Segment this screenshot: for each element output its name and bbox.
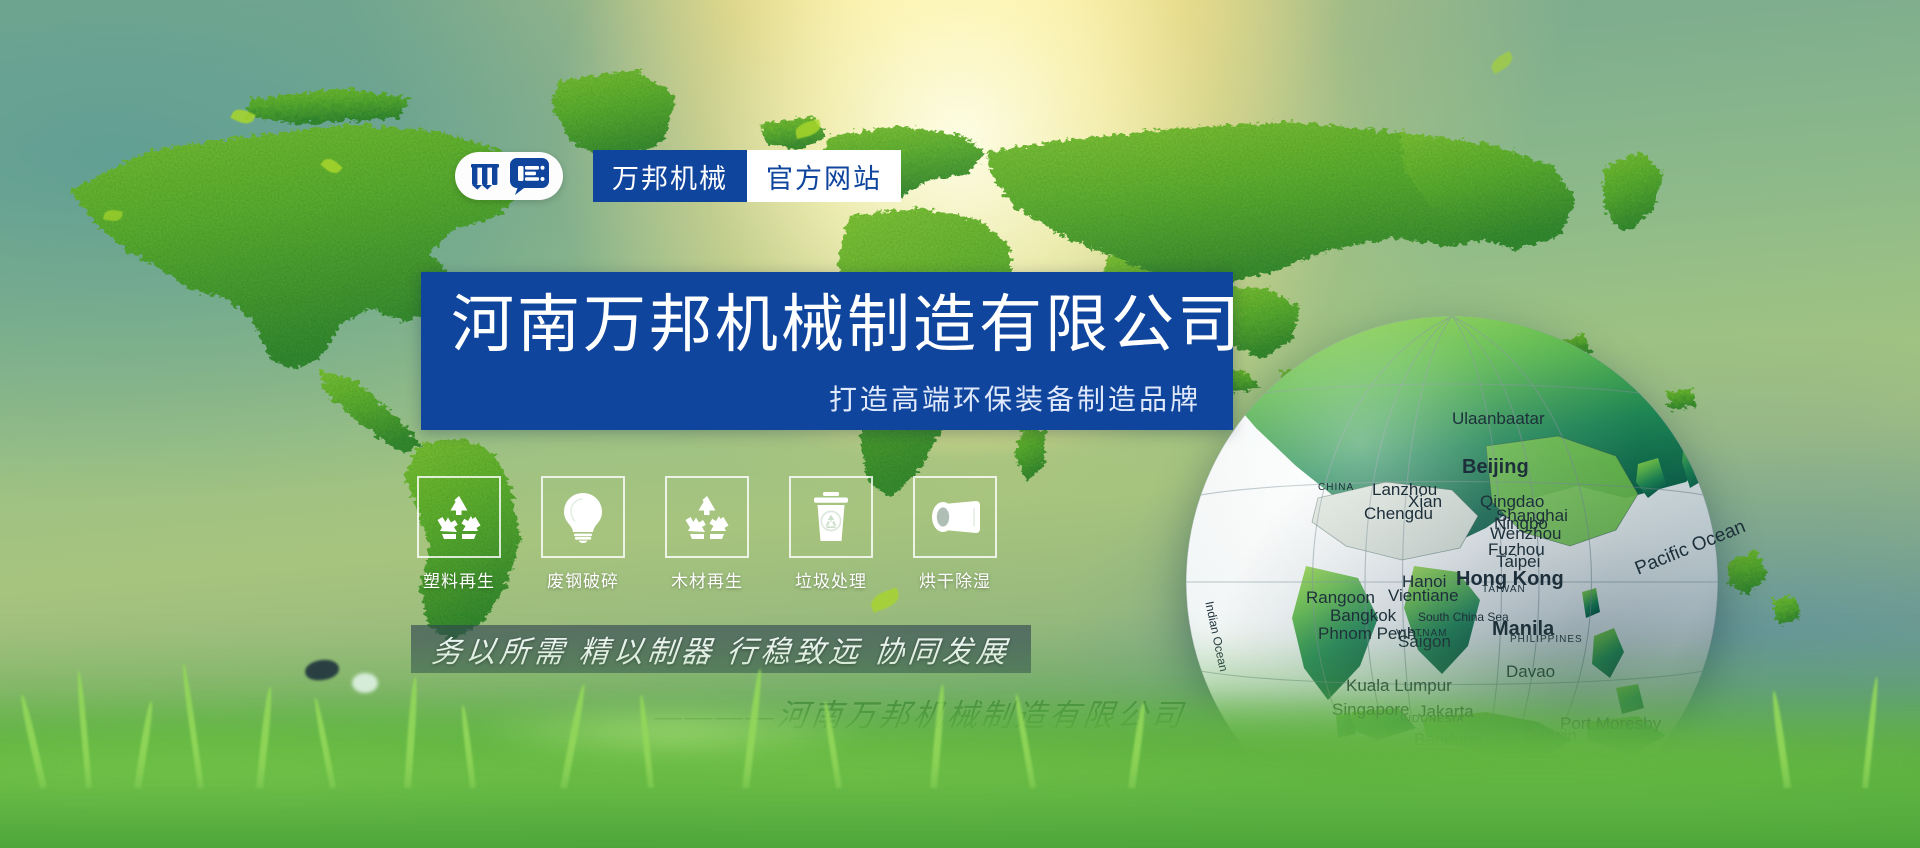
page-title: 河南万邦机械制造有限公司 xyxy=(451,288,1243,362)
official-site-text: 官方网站 xyxy=(766,157,882,196)
feature-icon-frame xyxy=(665,476,749,558)
dryer-drum-icon xyxy=(928,498,982,536)
feature-icon-frame xyxy=(541,476,625,558)
grass-foreground xyxy=(0,548,1920,848)
page-subtitle: 打造高端环保装备制造品牌 xyxy=(829,378,1201,418)
hero-title-banner: 河南万邦机械制造有限公司 打造高端环保装备制造品牌 xyxy=(421,272,1233,430)
brand-name-text: 万邦机械 xyxy=(612,157,728,196)
feature-icon-frame xyxy=(417,476,501,558)
recycle-icon xyxy=(682,493,732,541)
grass-highlight xyxy=(461,702,881,762)
recycle-icon xyxy=(434,493,484,541)
official-site-box[interactable]: 官方网站 xyxy=(747,150,901,202)
feature-icon-frame xyxy=(913,476,997,558)
brand-name-box[interactable]: 万邦机械 xyxy=(593,150,747,202)
lightbulb-icon xyxy=(561,491,605,543)
feature-icon-frame xyxy=(789,476,873,558)
b-bubble-icon xyxy=(508,156,550,196)
grass-layer-front xyxy=(0,768,1920,848)
brand-logo[interactable] xyxy=(455,152,563,200)
site-header: 万邦机械 官方网站 xyxy=(455,150,901,202)
w-mark-icon xyxy=(469,161,503,191)
hero-banner-page: Ulaanbaatar Beijing Lanzhou Xian Chengdu… xyxy=(0,0,1920,848)
grass-dewdrop xyxy=(352,673,378,693)
trash-bin-icon xyxy=(810,491,852,543)
